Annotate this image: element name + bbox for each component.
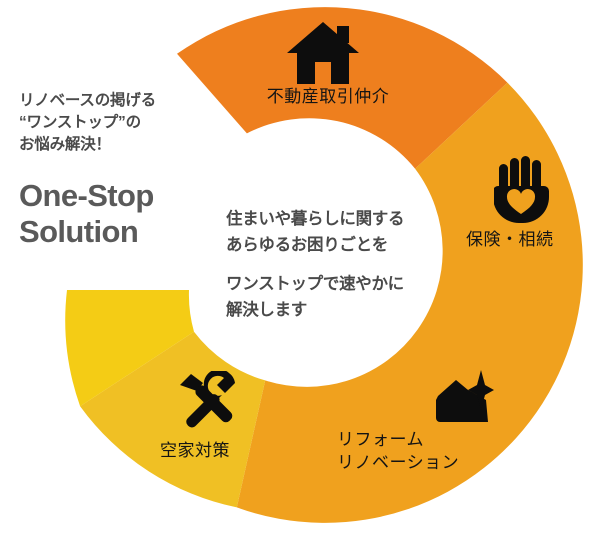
lead-text: リノベースの掲げる “ワンストップ”の お悩み解決！ <box>19 90 229 156</box>
hand-heart-icon <box>494 156 552 229</box>
segment-label-vacant-house: 空家対策 <box>160 440 280 463</box>
segment-label-insurance: 保険・相続 <box>466 229 586 252</box>
page-title: One-Stop Solution <box>19 178 229 250</box>
segment-label-reform: リフォーム リノベーション <box>337 429 497 475</box>
center-description-block: 住まいや暮らしに関する あらゆるお困りごとを ワンストップで速やかに 解決します <box>226 207 456 323</box>
left-heading-block: リノベースの掲げる “ワンストップ”の お悩み解決！ One-Stop Solu… <box>19 90 229 250</box>
one-stop-solution-infographic: リノベースの掲げる “ワンストップ”の お悩み解決！ One-Stop Solu… <box>0 0 600 533</box>
center-paragraph-2: ワンストップで速やかに 解決します <box>226 272 456 323</box>
segment-label-real-estate: 不動産取引仲介 <box>243 86 413 109</box>
sparkle-house-icon <box>434 370 494 431</box>
hammer-wrench-icon <box>177 371 239 436</box>
house-icon <box>287 22 359 89</box>
center-paragraph-1: 住まいや暮らしに関する あらゆるお困りごとを <box>226 207 456 258</box>
